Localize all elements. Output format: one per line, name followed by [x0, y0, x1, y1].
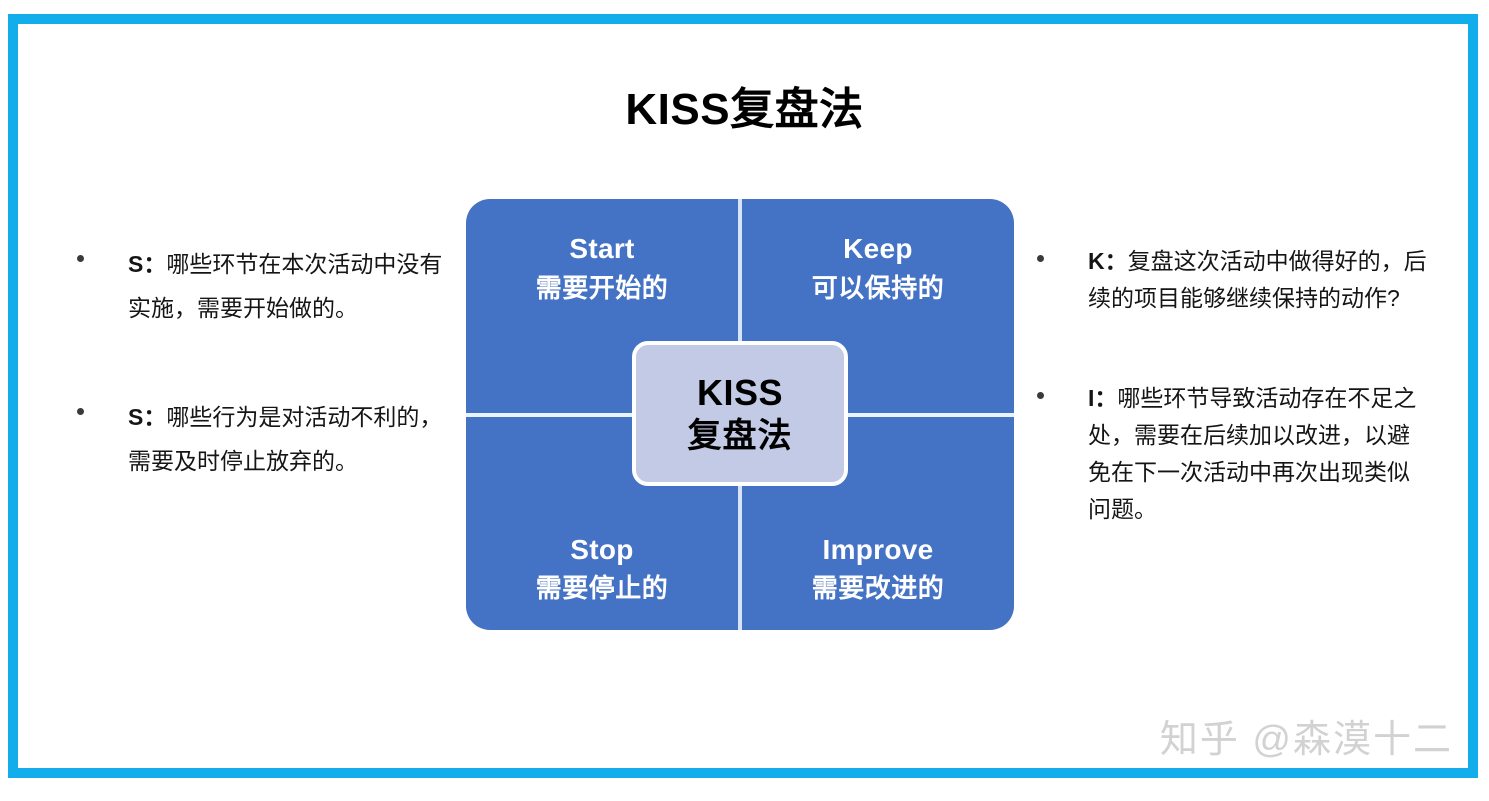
quadrant-stop-title: Stop — [466, 530, 738, 571]
bullet-text: S：哪些环节在本次活动中没有实施，需要开始做的。 — [68, 243, 460, 330]
quadrant-start-subtitle: 需要开始的 — [466, 270, 738, 308]
center-badge: KISS 复盘法 — [632, 341, 848, 486]
center-badge-title: KISS — [697, 370, 783, 415]
bullet-dot-icon — [77, 255, 84, 262]
bullet-body: 哪些环节导致活动存在不足之处，需要在后续加以改进，以避免在下一次活动中再次出现类… — [1088, 385, 1416, 523]
list-item: K：复盘这次活动中做得好的，后续的项目能够继续保持的动作? — [1028, 243, 1428, 318]
list-item: S：哪些环节在本次活动中没有实施，需要开始做的。 — [68, 243, 460, 330]
slide-canvas: KISS复盘法 S：哪些环节在本次活动中没有实施，需要开始做的。 S：哪些行为是… — [0, 0, 1489, 801]
bullet-key: K： — [1088, 248, 1128, 274]
list-item: I：哪些环节导致活动存在不足之处，需要在后续加以改进，以避免在下一次活动中再次出… — [1028, 380, 1428, 529]
list-item: S：哪些行为是对活动不利的，需要及时停止放弃的。 — [68, 396, 460, 483]
bullet-body: 哪些环节在本次活动中没有实施，需要开始做的。 — [128, 251, 442, 321]
center-badge-subtitle: 复盘法 — [688, 415, 793, 458]
page-title: KISS复盘法 — [0, 86, 1489, 134]
bullet-body: 复盘这次活动中做得好的，后续的项目能够继续保持的动作? — [1088, 248, 1427, 311]
bullet-text: K：复盘这次活动中做得好的，后续的项目能够继续保持的动作? — [1028, 243, 1428, 318]
quadrant-improve-subtitle: 需要改进的 — [742, 570, 1014, 608]
right-bullet-column: K：复盘这次活动中做得好的，后续的项目能够继续保持的动作? I：哪些环节导致活动… — [1028, 243, 1428, 591]
quadrant-improve-title: Improve — [742, 530, 1014, 571]
bullet-dot-icon — [1037, 255, 1044, 262]
quadrant-keep-title: Keep — [742, 229, 1014, 270]
bullet-key: S： — [128, 251, 166, 277]
quadrant-stop-subtitle: 需要停止的 — [466, 570, 738, 608]
bullet-key: I： — [1088, 385, 1117, 411]
watermark: 知乎 @森漠十二 — [1160, 708, 1453, 763]
quadrant-start-title: Start — [466, 229, 738, 270]
bullet-key: S： — [128, 404, 166, 430]
bullet-dot-icon — [1037, 392, 1044, 399]
bullet-text: I：哪些环节导致活动存在不足之处，需要在后续加以改进，以避免在下一次活动中再次出… — [1028, 380, 1428, 529]
bullet-body: 哪些行为是对活动不利的，需要及时停止放弃的。 — [128, 404, 442, 474]
quadrant-keep-subtitle: 可以保持的 — [742, 270, 1014, 308]
left-bullet-column: S：哪些环节在本次活动中没有实施，需要开始做的。 S：哪些行为是对活动不利的，需… — [68, 243, 460, 550]
bullet-text: S：哪些行为是对活动不利的，需要及时停止放弃的。 — [68, 396, 460, 483]
